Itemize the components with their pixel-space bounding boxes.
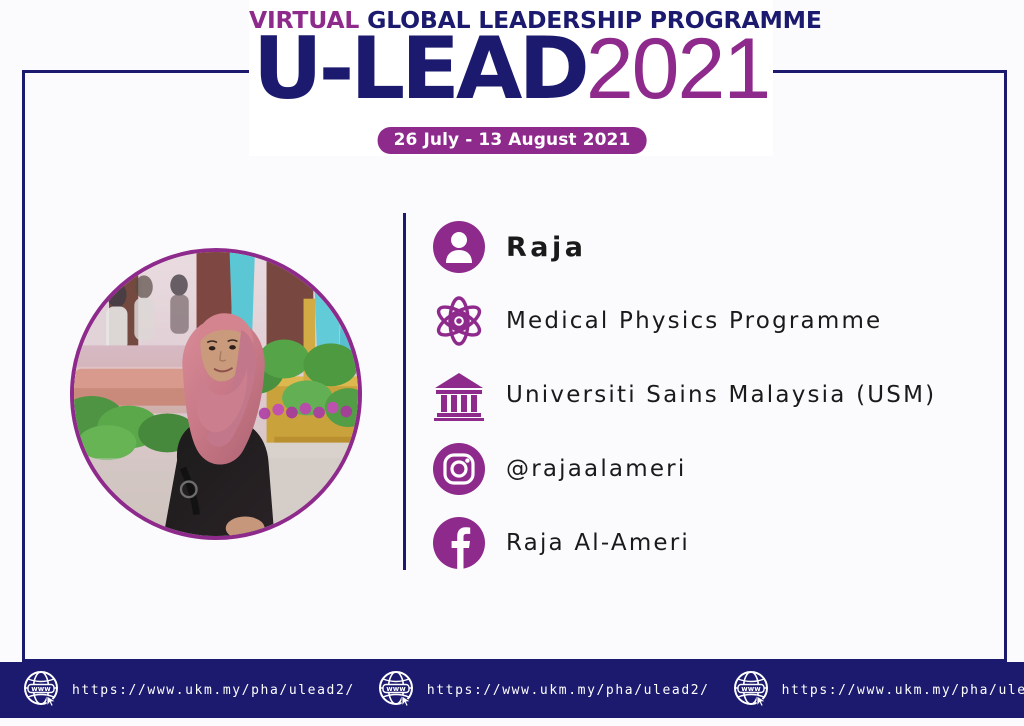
event-date-badge: 26 July - 13 August 2021 — [378, 127, 647, 154]
footer-link-3[interactable]: www https://www.ukm.my/pha/ulead2/ — [710, 669, 1024, 711]
svg-text:www: www — [386, 685, 406, 693]
profile-programme: Medical Physics Programme — [506, 308, 882, 334]
profile-institution: Universiti Sains Malaysia (USM) — [506, 382, 936, 408]
info-row-institution: Universiti Sains Malaysia (USM) — [430, 358, 990, 432]
info-row-programme: Medical Physics Programme — [430, 284, 990, 358]
profile-facebook-name: Raja Al-Ameri — [506, 530, 690, 556]
footer-bar: www https://www.ukm.my/pha/ulead2/ www — [0, 662, 1024, 718]
info-row-instagram[interactable]: @rajaalameri — [430, 432, 990, 506]
wordmark-ulead: U-LEAD — [253, 19, 586, 119]
facebook-icon[interactable] — [430, 514, 488, 572]
atom-icon — [430, 292, 488, 350]
info-row-facebook[interactable]: Raja Al-Ameri — [430, 506, 990, 580]
footer-url-text: https://www.ukm.my/pha/ulead2/ — [72, 683, 355, 698]
portrait-photo — [74, 252, 358, 536]
svg-text:www: www — [741, 685, 761, 693]
profile-info-list: Raja Medical Physics Programme — [430, 210, 990, 580]
wordmark-year: 2021 — [586, 21, 769, 117]
avatar — [70, 248, 362, 540]
person-icon — [430, 218, 488, 276]
poster-canvas: VIRTUAL GLOBAL LEADERSHIP PROGRAMME U-LE… — [0, 0, 1024, 726]
profile-instagram-handle: @rajaalameri — [506, 456, 686, 482]
info-divider — [403, 213, 406, 570]
instagram-icon[interactable] — [430, 440, 488, 498]
www-globe-icon: www — [22, 669, 60, 711]
www-globe-icon: www — [732, 669, 770, 711]
footer-url-text: https://www.ukm.my/pha/ulead2/ — [782, 683, 1024, 698]
event-wordmark: U-LEAD2021 — [249, 26, 773, 112]
bank-institution-icon — [430, 366, 488, 424]
footer-link-2[interactable]: www https://www.ukm.my/pha/ulead2/ — [355, 669, 710, 711]
profile-name: Raja — [506, 232, 587, 263]
footer-url-text: https://www.ukm.my/pha/ulead2/ — [427, 683, 710, 698]
www-globe-icon: www — [377, 669, 415, 711]
info-row-name: Raja — [430, 210, 990, 284]
footer-link-1[interactable]: www https://www.ukm.my/pha/ulead2/ — [0, 669, 355, 711]
svg-text:www: www — [31, 685, 51, 693]
